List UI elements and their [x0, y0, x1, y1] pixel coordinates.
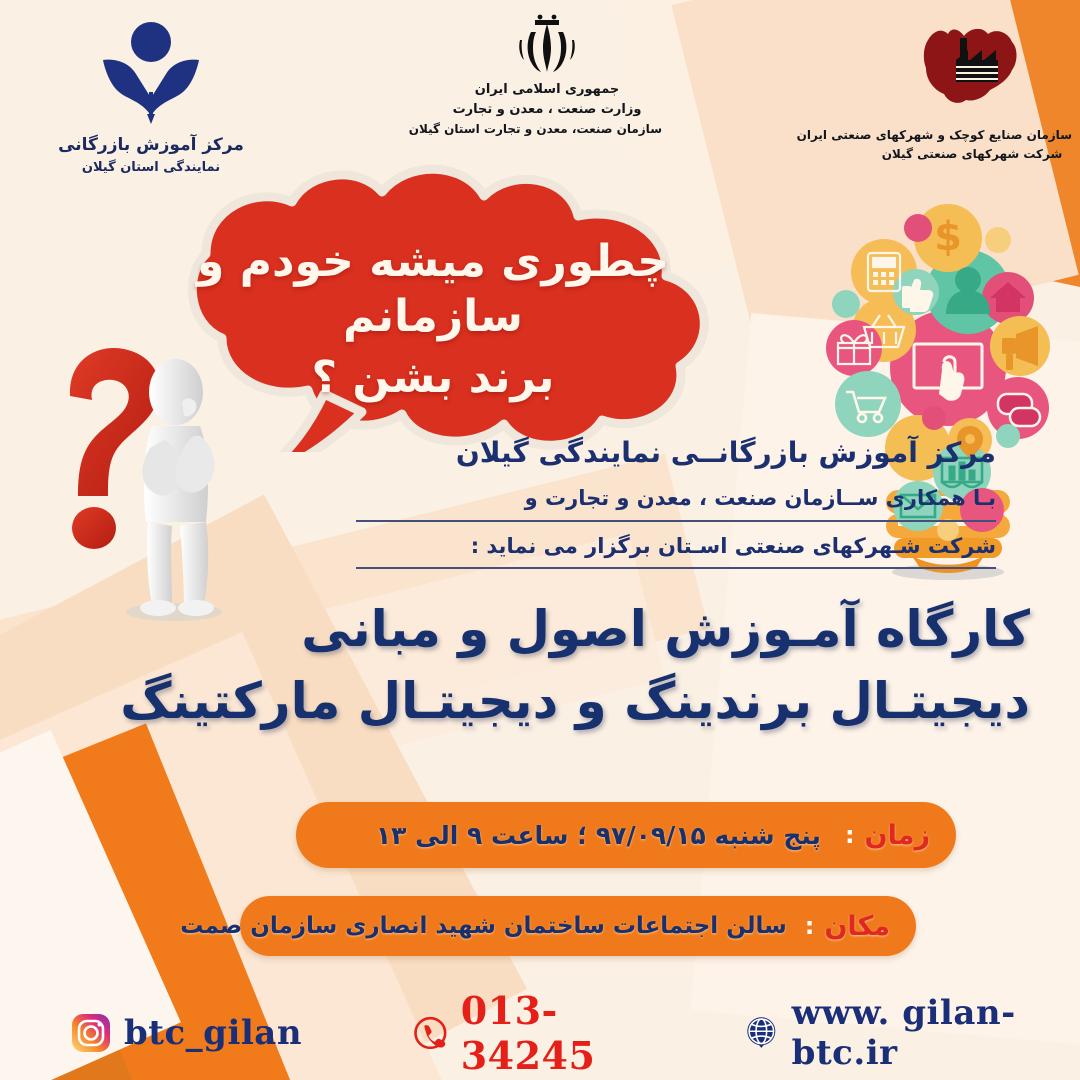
- organiser-line-3: شرکت شـهرکهای صنعتی اسـتان برگزار می نما…: [356, 530, 996, 570]
- book-person-logo-icon: [91, 20, 211, 130]
- logo-isipo-line-2: شرکت شهرکهای صنعتی گیلان: [872, 145, 1072, 164]
- phone-number[interactable]: 013-34245: [461, 988, 663, 1078]
- website-url[interactable]: www. gilan-btc.ir: [792, 993, 1080, 1073]
- logo-isipo-line-1: سازمان صنایع کوچک و شهرکهای صنعتی ایران: [872, 126, 1072, 145]
- page-title: کارگاه آمـوزش اصول و مبانی دیجیتـال برند…: [50, 596, 1030, 735]
- place-colon: :: [805, 912, 815, 940]
- time-value: پنج شنبه ۹۷/۰۹/۱۵ ؛ ساعت ۹ الی ۱۳: [376, 821, 821, 850]
- contact-website[interactable]: www. gilan-btc.ir: [743, 993, 1080, 1073]
- logo-ministry-line-3: سازمان صنعت، معدن و تجارت استان گیلان: [432, 120, 662, 139]
- title-line-1: کارگاه آمـوزش اصول و مبانی: [50, 596, 1030, 664]
- organiser-line-2: بـا همکاری ســازمان صنعت ، معدن و تجارت …: [356, 482, 996, 522]
- time-colon: :: [845, 821, 855, 849]
- globe-icon[interactable]: [743, 1012, 780, 1054]
- footer-contact-bar: btc_gilan 013-34245 www. gilan-btc.ir: [0, 1000, 1080, 1066]
- instagram-icon[interactable]: [70, 1012, 112, 1054]
- logo-ministry-line-2: وزارت صنعت ، معدن و تجارت: [432, 100, 662, 120]
- logo-btc-gilan: مرکز آموزش بازرگانی نمایندگی استان گیلان: [46, 20, 256, 178]
- phone-icon[interactable]: [412, 1012, 449, 1054]
- organiser-line-1: مرکز آموزش بازرگانــی نمایندگی گیلان: [356, 432, 996, 474]
- logo-ministry: جمهوری اسلامی ایران وزارت صنعت ، معدن و …: [432, 14, 662, 139]
- bubble-line-1: چطوری میشه خودم و سازمانم: [136, 234, 730, 344]
- iran-map-factory-icon: [912, 14, 1032, 122]
- event-poster: مرکز آموزش بازرگانی نمایندگی استان گیلان…: [0, 0, 1080, 1080]
- iran-emblem-icon: [510, 14, 584, 76]
- title-line-2: دیجیتـال برندینگ و دیجیتـال مارکتینگ: [50, 668, 1030, 736]
- organiser-block: مرکز آموزش بازرگانــی نمایندگی گیلان بـا…: [356, 432, 996, 569]
- contact-instagram[interactable]: btc_gilan: [70, 1012, 302, 1054]
- logo-isipo-gilan: سازمان صنایع کوچک و شهرکهای صنعتی ایران …: [872, 14, 1072, 163]
- logo-btc-line-1: مرکز آموزش بازرگانی: [46, 132, 256, 158]
- place-value: سالن اجتماعات ساختمان شهید انصاری سازمان…: [180, 913, 787, 939]
- logo-ministry-line-1: جمهوری اسلامی ایران: [432, 80, 662, 100]
- thinking-person-question-mark-icon: [34, 336, 264, 636]
- svg-text:$: $: [934, 214, 962, 260]
- contact-phone[interactable]: 013-34245: [412, 988, 663, 1078]
- detail-pill-time: زمان : پنج شنبه ۹۷/۰۹/۱۵ ؛ ساعت ۹ الی ۱۳: [296, 802, 956, 868]
- instagram-handle[interactable]: btc_gilan: [124, 1013, 302, 1053]
- place-label: مکان: [824, 911, 890, 942]
- detail-pill-place: مکان : سالن اجتماعات ساختمان شهید انصاری…: [240, 896, 916, 956]
- time-label: زمان: [865, 820, 930, 851]
- thinking-person-illustration: [34, 336, 264, 636]
